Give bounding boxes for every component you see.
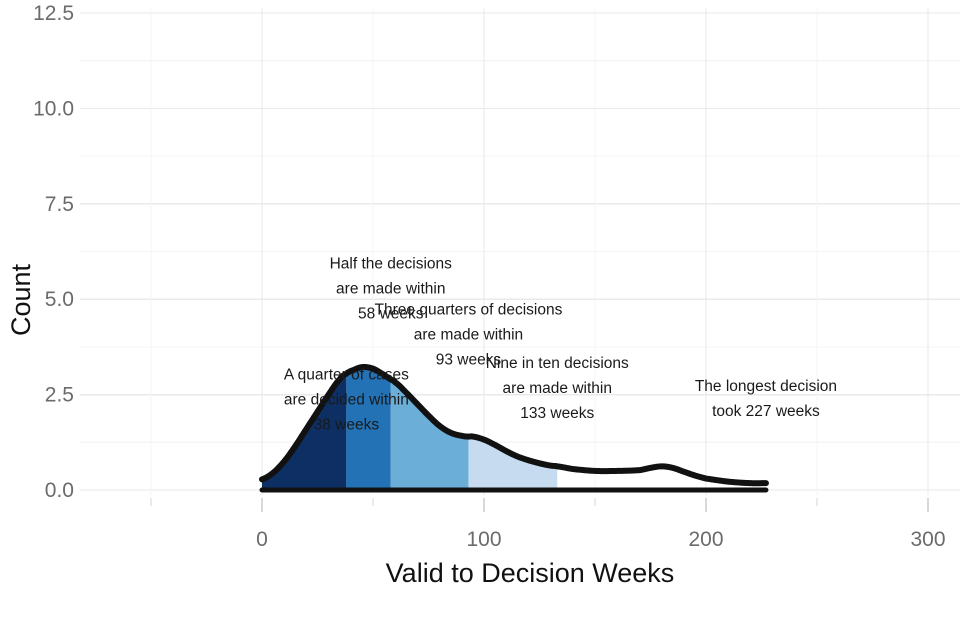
annotation-line: 133 weeks: [520, 405, 594, 422]
annotation-line: A quarter of cases: [284, 366, 409, 383]
annotation-line: are made within: [503, 380, 612, 397]
y-tick-label: 7.5: [45, 193, 74, 216]
annotation-line: took 227 weeks: [712, 403, 820, 420]
annotation-line: are made within: [414, 326, 523, 343]
plot-canvas: 0.02.55.07.510.012.5 0100200300 Count Va…: [0, 0, 960, 640]
annotation-line: The longest decision: [695, 378, 837, 395]
annotation-line: 38 weeks: [314, 416, 380, 433]
x-tick-label: 200: [688, 528, 723, 551]
x-axis-title: Valid to Decision Weeks: [386, 558, 675, 588]
y-axis-title: Count: [6, 263, 36, 336]
annotation-line: Nine in ten decisions: [486, 355, 629, 372]
y-tick-label: 12.5: [33, 2, 74, 25]
density-chart: 0.02.55.07.510.012.5 0100200300 Count Va…: [0, 0, 960, 640]
x-tick-label: 0: [256, 528, 268, 551]
x-tick-label: 100: [466, 528, 501, 551]
x-tick-label: 300: [910, 528, 945, 551]
annotation-line: Half the decisions: [330, 256, 453, 273]
y-tick-label: 2.5: [45, 384, 74, 407]
annotation-line: Three quarters of decisions: [375, 301, 563, 318]
y-tick-label: 10.0: [33, 97, 74, 120]
annotation-line: are decided within: [284, 391, 409, 408]
annotation-line: are made within: [336, 281, 445, 298]
y-tick-label: 0.0: [45, 479, 74, 502]
y-tick-label: 5.0: [45, 288, 74, 311]
